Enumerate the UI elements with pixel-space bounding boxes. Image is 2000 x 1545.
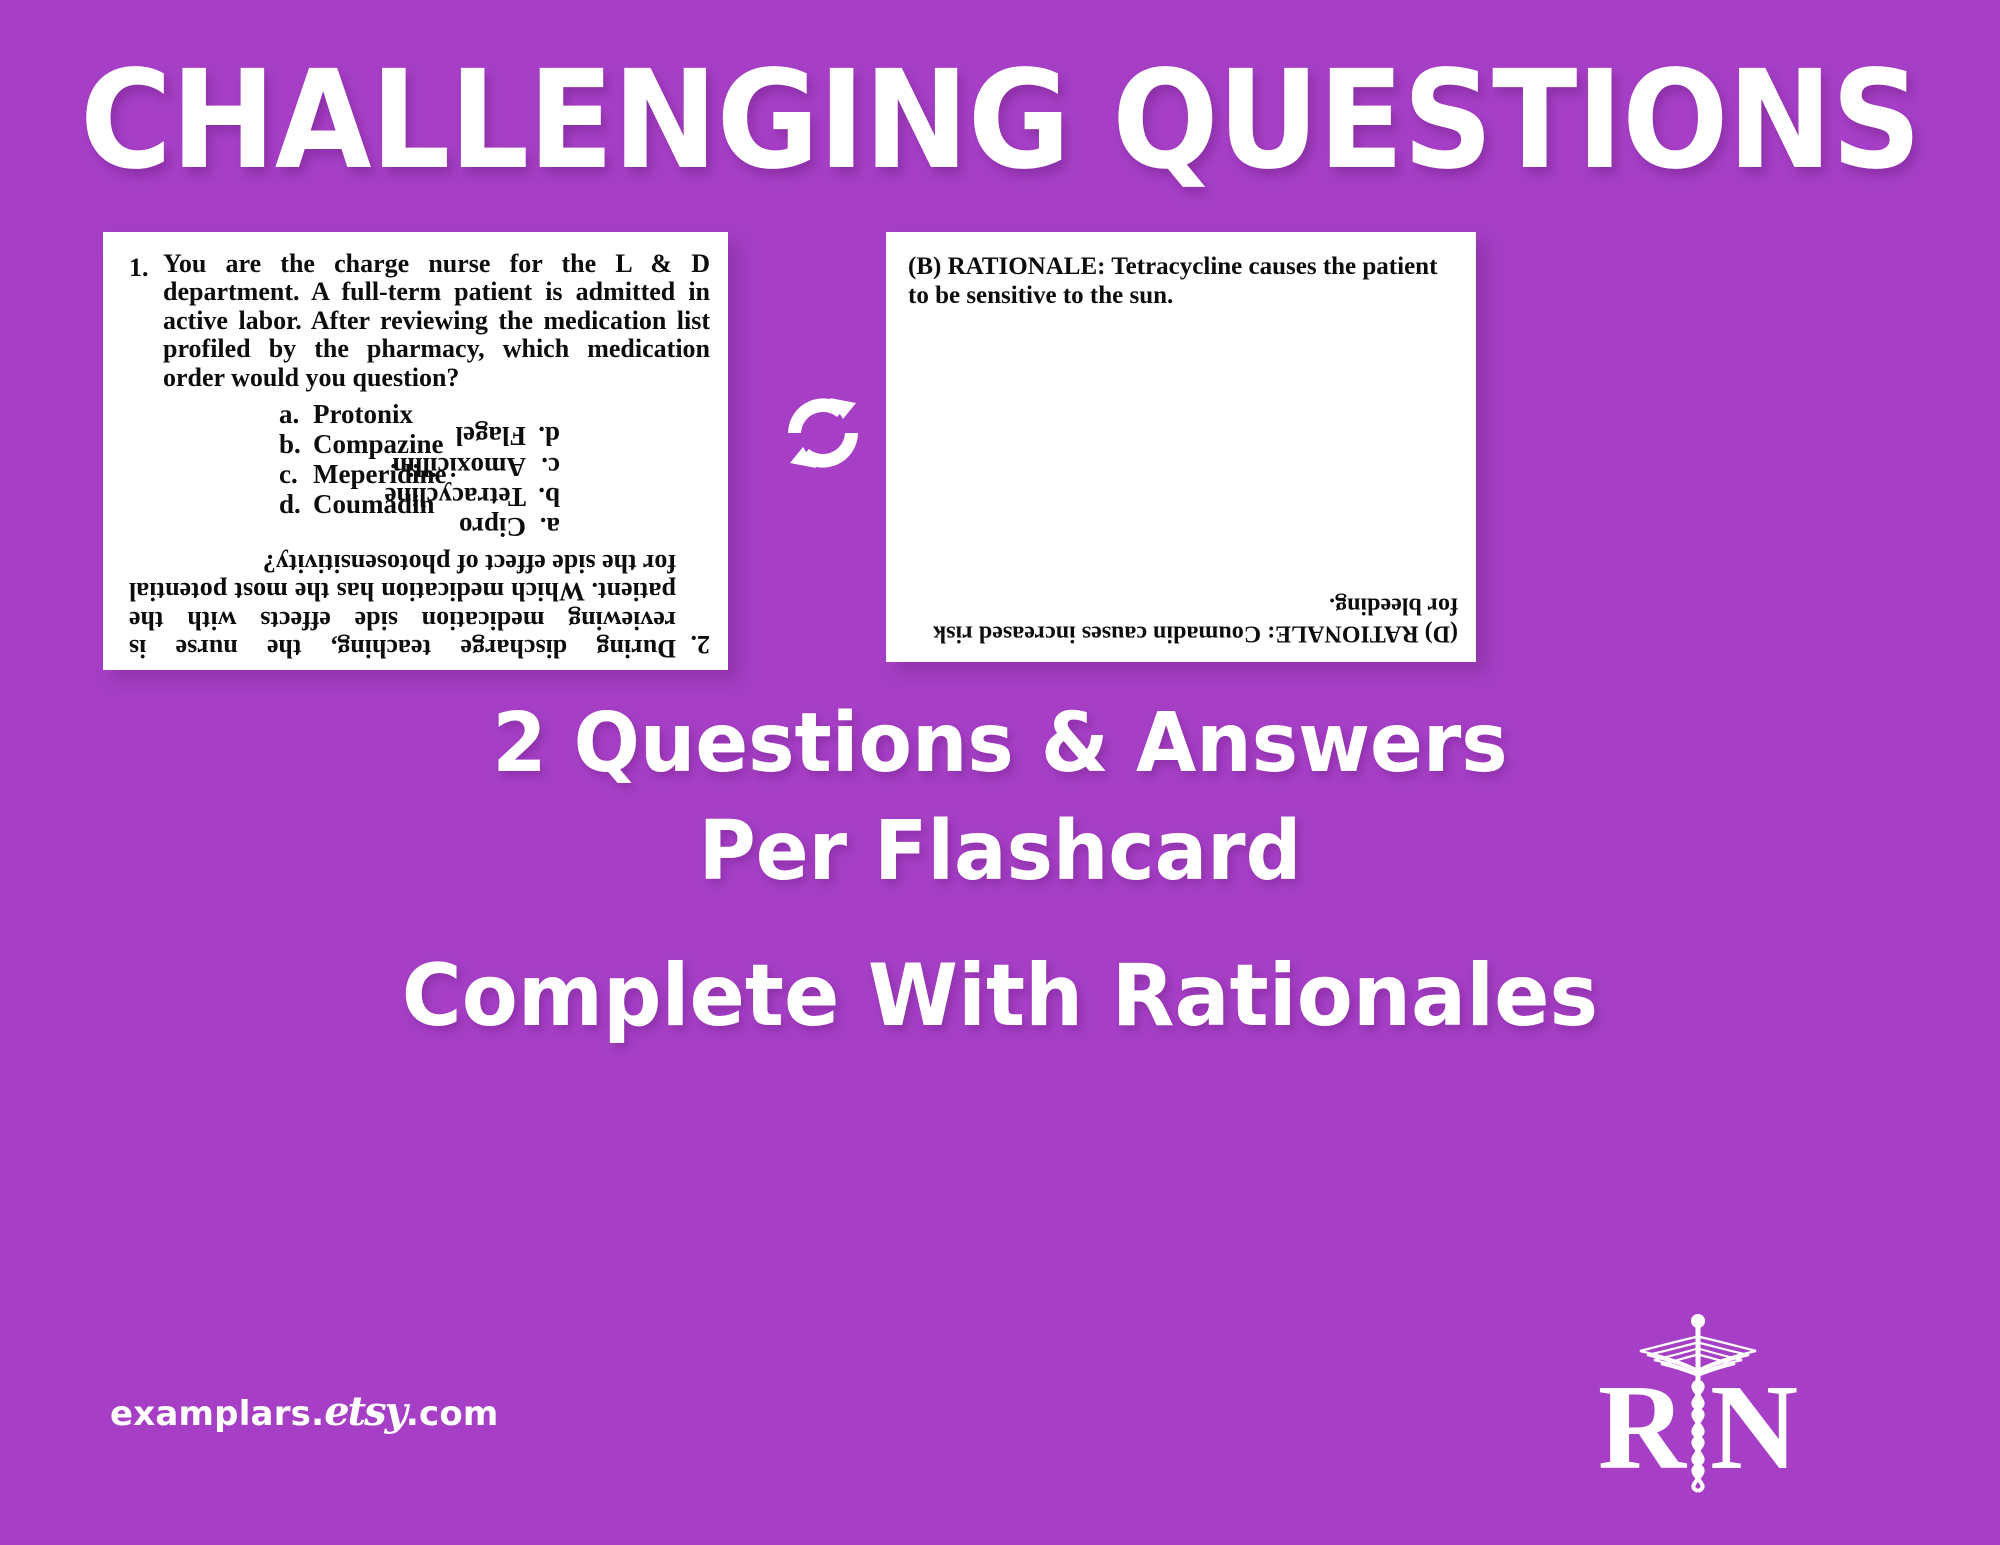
rationale-d-block-inverted: (D) RATIONALE: Coumadin causes increased…	[906, 591, 1458, 648]
choice2-b[interactable]: b.Tetracycline	[129, 482, 560, 512]
rationale-d-label: (D) RATIONALE:	[1267, 621, 1458, 647]
choice2-c-label: Amoxicillin	[393, 452, 527, 482]
watermark-prefix: examplars.	[110, 1394, 324, 1434]
poster-canvas: CHALLENGING QUESTIONS 1. You are the cha…	[0, 0, 2000, 1545]
rationale-card-body: (B) RATIONALE: Tetracycline causes the p…	[886, 232, 1476, 662]
rationale-d-line: (D) RATIONALE: Coumadin causes increased…	[906, 591, 1458, 648]
choice2-a-label: Cipro	[459, 512, 526, 542]
watermark-suffix: .com	[406, 1394, 499, 1434]
choice2-d-letter: d.	[526, 421, 560, 451]
refresh-icon[interactable]	[768, 378, 878, 488]
subtitle-line-3: Complete With Rationales	[50, 940, 1950, 1054]
rationale-flashcard[interactable]: (B) RATIONALE: Tetracycline causes the p…	[886, 232, 1476, 662]
subtitle-line-1: 2 Questions & Answers	[50, 690, 1950, 798]
choice2-a[interactable]: a.Cipro	[129, 512, 560, 542]
question-flashcard[interactable]: 1. You are the charge nurse for the L & …	[103, 232, 728, 670]
question-2-number-and-text: 2. During discharge teaching, the nurse …	[129, 548, 710, 658]
page-title: CHALLENGING QUESTIONS	[80, 42, 1920, 200]
rn-logo: RN	[1538, 1315, 1858, 1515]
rationale-b-line: (B) RATIONALE: Tetracycline causes the p…	[908, 252, 1460, 310]
question-2-block-inverted: 2. During discharge teaching, the nurse …	[129, 421, 710, 658]
question-card-body: 1. You are the charge nurse for the L & …	[103, 232, 728, 670]
subtitle-group: 2 Questions & Answers Per Flashcard Comp…	[0, 690, 2000, 1054]
rationale-b-block: (B) RATIONALE: Tetracycline causes the p…	[908, 252, 1460, 310]
choice2-a-letter: a.	[526, 512, 560, 542]
subtitle-line-2: Per Flashcard	[50, 798, 1950, 906]
shop-watermark: examplars.etsy.com	[110, 1388, 499, 1435]
choice2-b-label: Tetracycline	[385, 482, 526, 512]
question-2-text: During discharge teaching, the nurse is …	[129, 548, 710, 662]
watermark-brand: etsy	[324, 1388, 406, 1435]
question-1-text: You are the charge nurse for the L & D d…	[129, 250, 710, 393]
choice2-c-letter: c.	[526, 451, 560, 481]
choice2-c[interactable]: c.Amoxicillin	[129, 451, 560, 481]
choice2-d[interactable]: d.Flagel	[129, 421, 560, 451]
question-2-choices: a.Cipro b.Tetracycline c.Amoxicillin d.F…	[129, 421, 710, 542]
choice2-d-label: Flagel	[456, 421, 526, 451]
rn-logo-text: RN	[1538, 1367, 1858, 1489]
question-1-number: 1.	[129, 254, 163, 283]
rationale-b-label: (B) RATIONALE:	[908, 253, 1105, 280]
question-2-number: 2.	[676, 629, 710, 658]
question-1-number-and-text: 1. You are the charge nurse for the L & …	[129, 254, 710, 393]
choice2-b-letter: b.	[526, 482, 560, 512]
